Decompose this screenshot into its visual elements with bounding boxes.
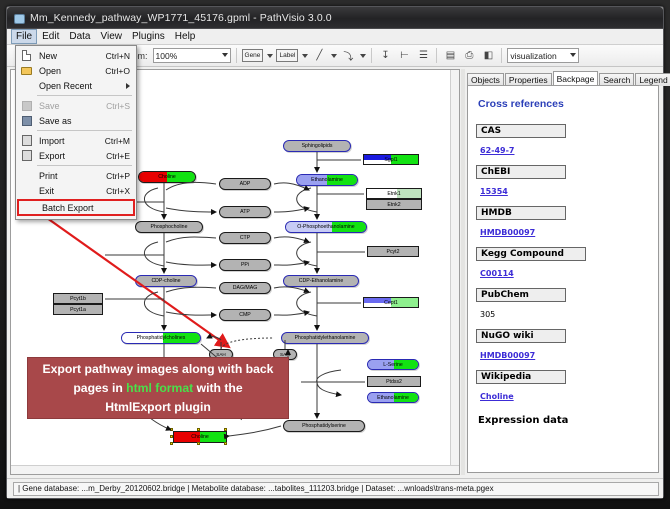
node-label: Sphingolipids [302,143,333,149]
menu-edit[interactable]: Edit [37,29,64,44]
xref-value-hmdb[interactable]: HMDB00097 [480,228,535,237]
menu-item-accelerator: Ctrl+N [106,51,136,61]
selection-handle[interactable] [197,428,200,431]
menu-item-export[interactable]: Export Ctrl+E [16,148,136,163]
screenshot-root: Mm_Kennedy_pathway_WP1771_45176.gpml - P… [0,0,670,509]
pathway-gene-sgpl1[interactable]: Sgpl1 [363,154,419,165]
node-label: ADP [240,181,251,187]
selection-handle[interactable] [224,442,227,445]
tab-backpage[interactable]: Backpage [553,71,599,86]
pathvisio-app-icon [13,12,25,24]
export-icon [18,149,35,162]
pathway-node-choline-selected[interactable]: Choline [173,431,227,443]
menu-item-exit[interactable]: Exit Ctrl+X [16,183,136,198]
menu-item-label: Batch Export [42,203,133,213]
toolbar-separator [436,48,437,63]
blank-icon [21,201,38,214]
callout-line-2: pages in html format with the [73,379,242,398]
pathway-node-dag-mag[interactable]: DAG/MAG [219,282,271,294]
xref-value-kegg-compound[interactable]: C00114 [480,269,514,278]
pathway-node-cmp[interactable]: CMP [219,309,271,321]
xref-db-nugo-wiki: NuGO wiki [476,329,566,343]
xref-value-pubchem: 305 [480,310,495,319]
xref-db-hmdb: HMDB [476,206,566,220]
menu-item-label: Save [39,101,106,111]
canvas-horizontal-scrollbar[interactable] [11,465,459,474]
menu-item-save-as[interactable]: Save as [16,113,136,128]
node-label: L-Serine [383,362,403,368]
backpage-content: Cross references CAS 62-49-7 ChEBI 15354… [467,85,659,473]
pathway-gene-etnk1[interactable]: Etnk1 [366,188,422,199]
pathway-node-ethanolamine-bottom[interactable]: Ethanolamine [367,392,419,403]
node-label: CMP [239,312,251,318]
sidebar-toggle-icon[interactable]: ◧ [480,48,496,64]
chevron-down-icon [570,53,576,57]
gene-label: Pcyt2 [387,249,400,255]
node-label: Choline [158,174,176,180]
file-menu-popup[interactable]: New Ctrl+N Open Ctrl+O Open Recent Save … [15,45,137,220]
node-label: Choline [191,434,209,440]
submenu-arrow-icon [126,83,130,89]
menu-item-label: Open [39,66,105,76]
visualization-value: visualization [510,51,556,61]
gene-label: Sgpl1 [384,157,397,163]
pathway-node-cdp-ethanolamine[interactable]: CDP-Ethanolamine [283,275,359,287]
zoom-combobox[interactable]: 100% [153,48,231,63]
expression-data-heading: Expression data [478,415,650,426]
gene-label: Etnk1 [387,191,400,197]
menu-separator [37,95,132,96]
xref-db-kegg-compound: Kegg Compound [476,247,586,261]
side-panel: Objects Properties Backpage Search Legen… [465,69,661,475]
pathway-gene-pcyt1b[interactable]: Pcyt1b [53,293,103,304]
menu-file[interactable]: File [11,29,37,44]
status-text: | Gene database: ...m_Derby_20120602.bri… [13,482,659,496]
menu-item-print[interactable]: Print Ctrl+P [16,168,136,183]
toolbar-separator [236,48,237,63]
menu-item-accelerator: Ctrl+S [106,101,136,111]
blank-icon [18,184,35,197]
zoom-value: 100% [156,51,178,61]
menu-item-open[interactable]: Open Ctrl+O [16,63,136,78]
import-icon [18,134,35,147]
chevron-down-icon [222,53,228,57]
pathway-node-phosphatidylserine[interactable]: Phosphatidylserine [283,420,365,432]
menu-help[interactable]: Help [170,29,201,44]
blank-icon [18,79,35,92]
interaction-tool-icon[interactable]: ⤵ [340,48,356,64]
open-folder-icon [18,64,35,77]
stack-vertical-icon[interactable]: ☰ [415,48,431,64]
align-left-icon[interactable]: ⊢ [396,48,412,64]
selection-handle[interactable] [170,428,173,431]
gene-product-button[interactable]: Gene [242,49,264,62]
selection-handle[interactable] [224,435,227,438]
node-label: Phosphocholine [151,224,188,230]
callout-highlight-text: html format [126,381,193,395]
menu-item-accelerator: Ctrl+P [106,171,136,181]
menu-item-batch-export-highlight: Batch Export [17,199,135,216]
pathway-node-o-phosphoethanolamine[interactable]: O-Phosphoethanolamine [285,221,367,233]
menu-item-label: Import [39,136,105,146]
blank-icon [18,169,35,182]
menu-item-save: Save Ctrl+S [16,98,136,113]
menu-item-accelerator: Ctrl+O [105,66,136,76]
menu-item-label: Print [39,171,106,181]
menu-data[interactable]: Data [64,29,95,44]
node-label: Phosphatidylcholines [137,335,186,341]
menu-item-label: Open Recent [39,81,126,91]
pathway-node-phosphatidylcholines[interactable]: Phosphatidylcholines [121,332,201,344]
pathway-gene-pcyt2[interactable]: Pcyt2 [367,246,419,257]
pathway-node-choline-top[interactable]: Choline [138,171,196,183]
xref-db-wikipedia: Wikipedia [476,370,566,384]
callout-line-3: HtmlExport plugin [105,398,211,417]
xref-db-chebi: ChEBI [476,165,566,179]
menu-item-open-recent[interactable]: Open Recent [16,78,136,93]
menu-bar: File Edit Data View Plugins Help [7,29,663,45]
node-label: CDP-choline [151,278,180,284]
new-document-icon [18,49,35,62]
canvas-vertical-scrollbar[interactable] [450,70,459,474]
selection-handle[interactable] [170,442,173,445]
node-label: Ethanolamine [377,395,409,401]
pathway-node-sphingolipids[interactable]: Sphingolipids [283,140,351,152]
xref-value-wikipedia[interactable]: Choline [480,392,514,401]
window-title: Mm_Kennedy_pathway_WP1771_45176.gpml - P… [30,12,332,24]
pathway-gene-cept1[interactable]: Cept1 [363,297,419,308]
menu-item-label: Save as [39,116,130,126]
callout-line-2-prefix: pages in [73,381,126,395]
gene-label: Cept1 [384,300,398,306]
gene-label: Pcyt1a [70,307,86,313]
pathway-node-ctp[interactable]: CTP [219,232,271,244]
menu-item-import[interactable]: Import Ctrl+M [16,133,136,148]
save-as-icon [18,114,35,127]
toolbar-separator [371,48,372,63]
node-label: DAG/MAG [233,285,258,291]
chevron-down-icon[interactable] [267,54,273,58]
chevron-down-icon[interactable] [302,54,308,58]
xref-value-nugo-wiki[interactable]: HMDB00097 [480,351,535,360]
menu-plugins[interactable]: Plugins [127,29,170,44]
visualization-combobox[interactable]: visualization [507,48,579,63]
pathway-node-phosphocholine[interactable]: Phosphocholine [135,221,203,233]
status-bar: | Gene database: ...m_Derby_20120602.bri… [7,478,663,498]
callout-line-2-suffix: with the [193,381,242,395]
gene-label: Etnk2 [387,202,400,208]
pathway-gene-etnk2[interactable]: Etnk2 [366,199,422,210]
distribute-columns-icon[interactable]: ▤ [442,48,458,64]
gene-label: Pcyt1b [70,296,86,302]
pathway-node-atp[interactable]: ATP [219,206,271,218]
line-tool-icon[interactable]: ╱ [311,48,327,64]
menu-item-accelerator: Ctrl+E [106,151,136,161]
selection-handle[interactable] [197,442,200,445]
annotation-callout: Export pathway images along with back pa… [27,357,289,419]
menu-view[interactable]: View [95,29,127,44]
print-toolbar-icon[interactable]: ⎙ [461,48,477,64]
label-button[interactable]: Label [276,49,298,62]
pathway-node-ppi[interactable]: PPi [219,259,271,271]
pathway-node-cdp-choline[interactable]: CDP-choline [135,275,197,287]
chevron-down-icon[interactable] [360,54,366,58]
xref-value-chebi[interactable]: 15354 [480,187,508,196]
menu-item-accelerator: Ctrl+M [105,136,136,146]
xref-value-cas[interactable]: 62-49-7 [480,146,514,155]
selection-handle[interactable] [170,435,173,438]
pathway-node-l-serine[interactable]: L-Serine [367,359,419,370]
node-label: CTP [240,235,250,241]
menu-item-label: Exit [39,186,106,196]
menu-item-label: Export [39,151,106,161]
node-label: ATP [240,209,250,215]
pathway-node-phosphatidylethanolamine[interactable]: Phosphatidylethanolamine [281,332,369,344]
pathway-node-adp[interactable]: ADP [219,178,271,190]
menu-item-label: New [39,51,106,61]
node-label: Phosphatidylserine [302,423,346,429]
menu-separator [37,130,132,131]
pathway-gene-ptdss2[interactable]: Ptdss2 [367,376,421,387]
backpage-heading: Cross references [478,98,650,110]
pathway-node-ethanolamine[interactable]: Ethanolamine [296,174,358,186]
chevron-down-icon[interactable] [331,54,337,58]
title-bar: Mm_Kennedy_pathway_WP1771_45176.gpml - P… [7,7,663,29]
callout-line-1: Export pathway images along with back [43,360,274,379]
side-panel-tabs: Objects Properties Backpage Search Legen… [467,71,659,86]
save-icon [18,99,35,112]
menu-item-accelerator: Ctrl+X [106,186,136,196]
node-label: Phosphatidylethanolamine [295,335,356,341]
toolbar-separator [501,48,502,63]
pathway-gene-pcyt1a[interactable]: Pcyt1a [53,304,103,315]
node-label: CDP-Ethanolamine [299,278,343,284]
align-top-icon[interactable]: ↧ [377,48,393,64]
node-label: O-Phosphoethanolamine [297,224,354,230]
selection-handle[interactable] [224,428,227,431]
application-window: Mm_Kennedy_pathway_WP1771_45176.gpml - P… [6,6,664,499]
xref-db-pubchem: PubChem [476,288,566,302]
node-label: Ethanolamine [311,177,343,183]
xref-db-cas: CAS [476,124,566,138]
gene-label: Ptdss2 [386,379,402,385]
menu-item-batch-export[interactable]: Batch Export [19,200,133,215]
node-label: PPi [241,262,249,268]
menu-separator [37,165,132,166]
menu-item-new[interactable]: New Ctrl+N [16,48,136,63]
